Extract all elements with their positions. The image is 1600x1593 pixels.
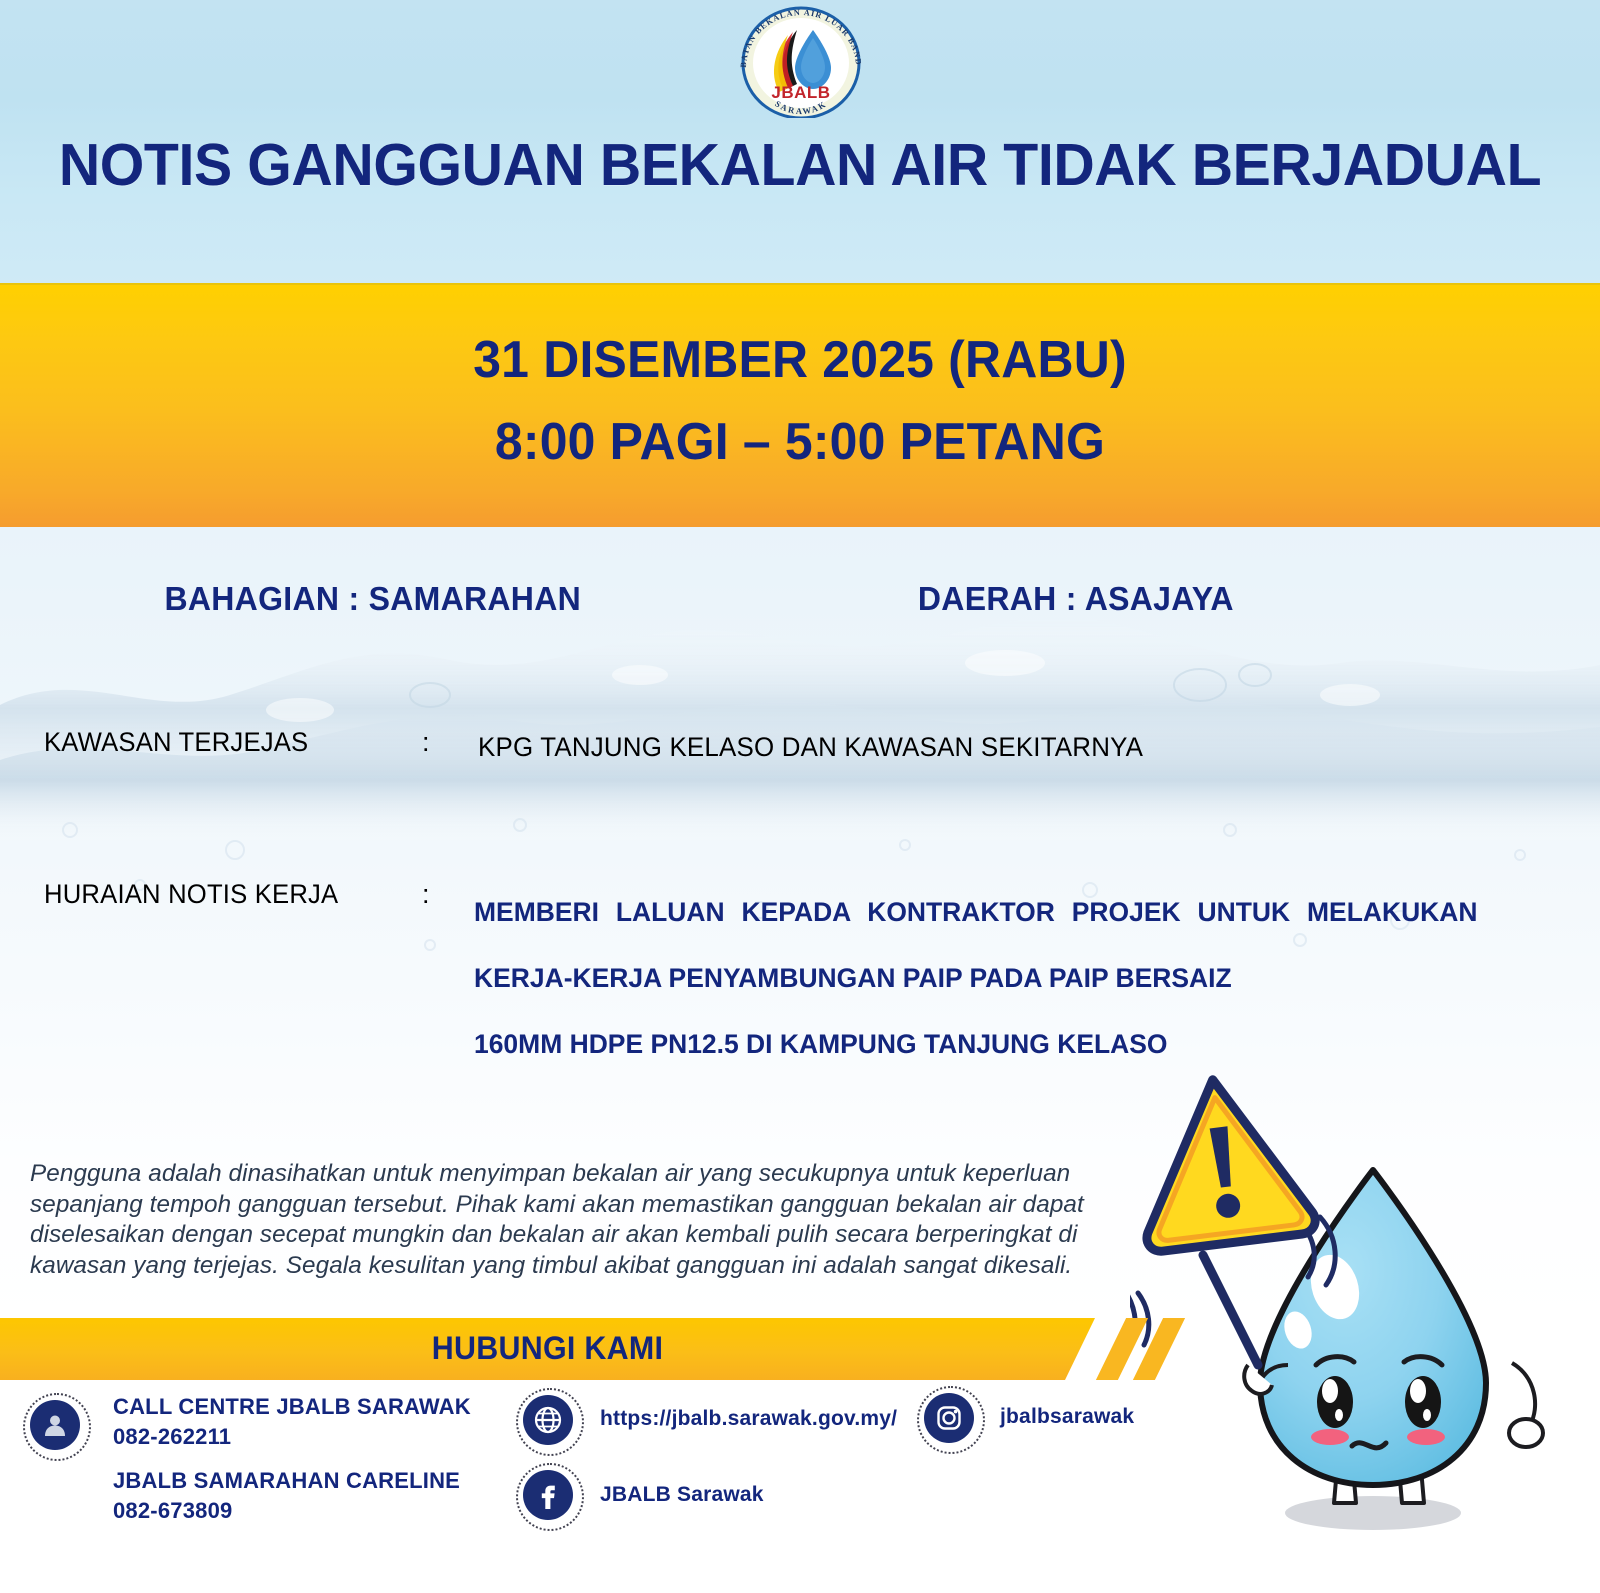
schedule-time: 8:00 PAGI – 5:00 PETANG bbox=[32, 412, 1568, 472]
facebook-handle[interactable]: JBALB Sarawak bbox=[600, 1480, 764, 1510]
water-droplet-mascot bbox=[1130, 1065, 1600, 1535]
schedule-band: 31 DISEMBER 2025 (RABU) 8:00 PAGI – 5:00… bbox=[0, 283, 1600, 527]
schedule-date: 31 DISEMBER 2025 (RABU) bbox=[32, 330, 1568, 390]
notice-poster: JABATAN BEKALAN AIR LUAR BANDAR SARAWAK … bbox=[0, 0, 1600, 1593]
logo-wordmark: JBALB bbox=[771, 83, 830, 102]
affected-area-value: KPG TANJUNG KELASO DAN KAWASAN SEKITARNY… bbox=[478, 732, 1143, 763]
affected-area-colon: : bbox=[422, 727, 430, 758]
call-centre-number: 082-262211 bbox=[113, 1422, 471, 1452]
instagram-handle[interactable]: jbalbsarawak bbox=[1000, 1402, 1134, 1432]
careline-number: 082-673809 bbox=[113, 1496, 460, 1526]
advisory-text: Pengguna adalah dinasihatkan untuk menyi… bbox=[30, 1159, 1094, 1281]
instagram-icon[interactable] bbox=[924, 1393, 974, 1443]
affected-area-label: KAWASAN TERJEJAS bbox=[44, 727, 308, 758]
globe-icon[interactable] bbox=[523, 1395, 573, 1445]
jbalb-logo: JABATAN BEKALAN AIR LUAR BANDAR SARAWAK … bbox=[727, 6, 875, 118]
work-description-colon: : bbox=[422, 879, 430, 910]
work-description-label: HURAIAN NOTIS KERJA bbox=[44, 879, 338, 910]
person-icon bbox=[30, 1400, 80, 1450]
work-description-line-1: MEMBERI LALUAN KEPADA KONTRAKTOR PROJEK … bbox=[474, 897, 1478, 993]
division-text: BAHAGIAN : SAMARAHAN bbox=[164, 580, 581, 618]
website-url[interactable]: https://jbalb.sarawak.gov.my/ bbox=[600, 1404, 897, 1434]
page-title: NOTIS GANGGUAN BEKALAN AIR TIDAK BERJADU… bbox=[24, 131, 1576, 199]
district-text: DAERAH : ASAJAYA bbox=[918, 580, 1234, 618]
work-description-value: MEMBERI LALUAN KEPADA KONTRAKTOR PROJEK … bbox=[474, 879, 1478, 1077]
facebook-icon[interactable] bbox=[523, 1470, 573, 1520]
call-centre-name: CALL CENTRE JBALB SARAWAK bbox=[113, 1392, 471, 1422]
contact-banner-label: HUBUNGI KAMI bbox=[27, 1330, 1067, 1367]
call-centre-block: CALL CENTRE JBALB SARAWAK 082-262211 bbox=[113, 1392, 471, 1452]
careline-name: JBALB SAMARAHAN CARELINE bbox=[113, 1466, 460, 1496]
careline-block: JBALB SAMARAHAN CARELINE 082-673809 bbox=[113, 1466, 460, 1526]
